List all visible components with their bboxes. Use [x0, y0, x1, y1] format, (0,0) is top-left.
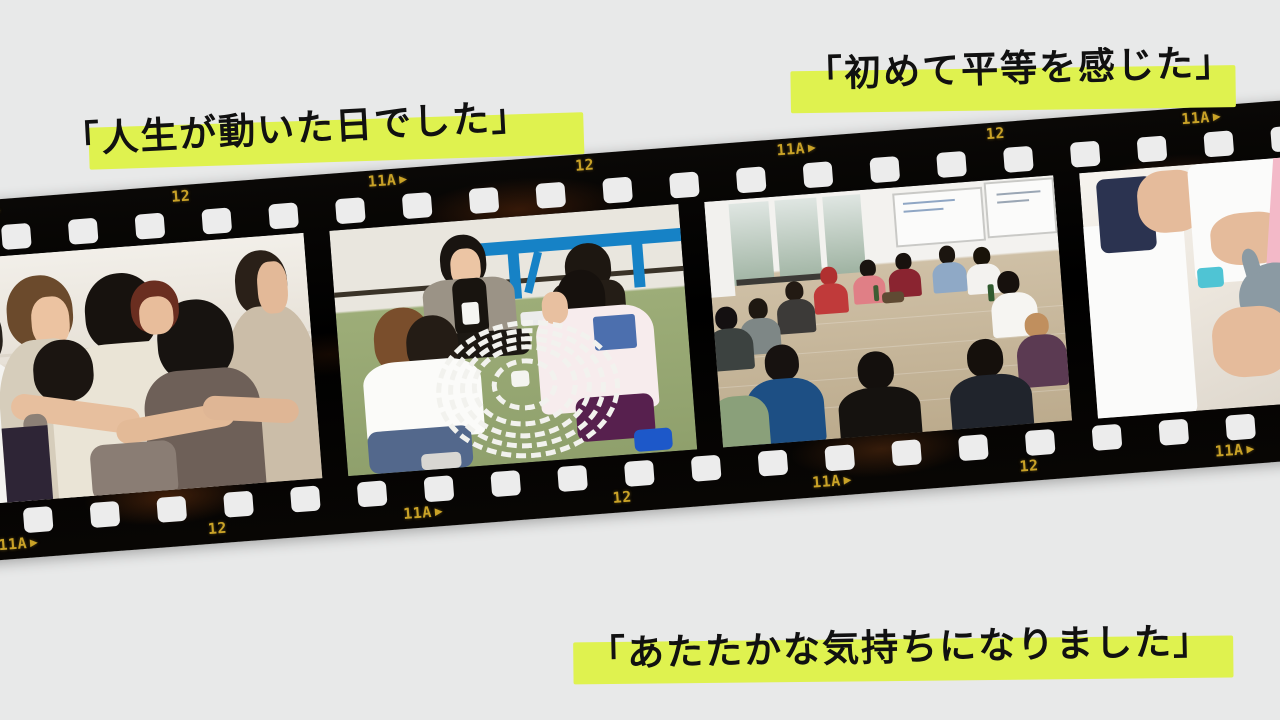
sprocket-hole	[1003, 145, 1034, 172]
photo-group-hug	[0, 233, 322, 505]
sprocket-hole	[1070, 140, 1101, 167]
film-frame[interactable]	[1079, 146, 1280, 418]
sprocket-hole	[335, 197, 366, 224]
sprocket-hole	[402, 192, 433, 219]
film-arrow-icon: ▶	[399, 172, 408, 188]
film-arrow-icon: ▶	[29, 535, 38, 551]
sprocket-hole	[490, 470, 521, 497]
film-frame[interactable]	[329, 204, 697, 476]
caption-text: 「初めて平等を感じた」	[805, 41, 1235, 96]
sprocket-hole	[1158, 418, 1189, 445]
sprocket-hole	[223, 490, 254, 517]
film-arrow-icon: ▶	[843, 473, 852, 489]
testimonial-caption-warmth: 「あたたかな気持ちになりました」	[588, 610, 1213, 677]
edge-code-11a: 11A▶	[0, 201, 1, 222]
testimonial-caption-equality: 「初めて平等を感じた」	[804, 32, 1234, 98]
edge-code-11a: 11A▶	[367, 170, 408, 191]
sprocket-hole	[1137, 135, 1168, 162]
sprocket-hole	[23, 506, 54, 533]
sprocket-hole	[1025, 428, 1056, 455]
photo-labyrinth-circle	[329, 204, 697, 476]
sprocket-hole	[424, 475, 455, 502]
sprocket-hole	[803, 161, 834, 188]
edge-code-11a: 11A▶	[1214, 440, 1255, 461]
edge-code-12: 12	[985, 124, 1005, 143]
sprocket-hole	[824, 444, 855, 471]
film-arrow-icon: ▶	[0, 203, 1, 219]
sprocket-hole	[936, 150, 967, 177]
film-frame[interactable]	[704, 175, 1072, 447]
film-arrow-icon: ▶	[1246, 442, 1255, 458]
edge-code-11a: 11A▶	[403, 502, 444, 523]
film-arrow-icon: ▶	[1212, 109, 1221, 125]
photo-plush-toy	[1079, 146, 1280, 418]
photo-large-circle	[704, 175, 1072, 447]
edge-code-12: 12	[207, 519, 227, 538]
edge-code-11a: 11A▶	[1181, 107, 1222, 128]
sprocket-hole	[736, 166, 767, 193]
sprocket-hole	[469, 186, 500, 213]
sprocket-hole	[135, 212, 166, 239]
sprocket-hole	[156, 495, 187, 522]
sprocket-hole	[669, 171, 700, 198]
sprocket-hole	[1270, 125, 1280, 152]
sprocket-hole	[891, 439, 922, 466]
sprocket-hole	[89, 500, 120, 527]
sprocket-hole	[557, 464, 588, 491]
edge-code-12: 12	[612, 488, 632, 507]
sprocket-hole	[691, 454, 722, 481]
sprocket-hole	[268, 202, 299, 229]
edge-code-12: 12	[574, 155, 594, 174]
edge-code-11a: 11A▶	[776, 138, 817, 159]
film-arrow-icon: ▶	[807, 140, 816, 156]
sprocket-hole	[1092, 423, 1123, 450]
sprocket-hole	[535, 181, 566, 208]
sprocket-hole	[758, 449, 789, 476]
sprocket-hole	[1203, 130, 1234, 157]
film-arrow-icon: ▶	[434, 504, 443, 520]
sprocket-hole	[624, 459, 655, 486]
sprocket-hole	[958, 434, 989, 461]
film-frame-row	[0, 153, 1280, 508]
edge-code-11a: 11A▶	[811, 471, 852, 492]
sprocket-hole	[290, 485, 321, 512]
testimonial-caption-life: 「人生が動いた日でした」	[61, 86, 531, 164]
sprocket-hole	[68, 217, 99, 244]
sprocket-hole	[1225, 413, 1256, 440]
sprocket-hole	[357, 480, 388, 507]
edge-code-12: 12	[171, 186, 191, 205]
sprocket-hole	[869, 156, 900, 183]
sprocket-hole	[201, 207, 232, 234]
edge-code-11a: 11A▶	[0, 533, 39, 554]
sprocket-hole	[1, 222, 32, 249]
sprocket-hole	[602, 176, 633, 203]
film-frame[interactable]	[0, 233, 322, 505]
edge-code-12: 12	[1019, 456, 1039, 475]
poster-canvas: 11A▶ 12 11A▶ 12 11A▶ 12 11A▶	[0, 0, 1280, 720]
